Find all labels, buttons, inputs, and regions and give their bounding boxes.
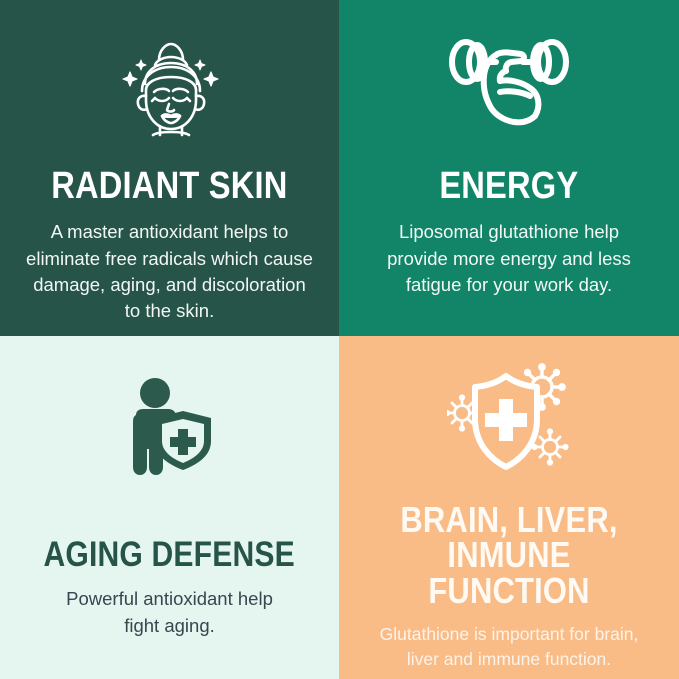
panel-title-radiant-skin: RADIANT SKIN <box>51 168 287 205</box>
panel-aging-defense: AGING DEFENSE Powerful antioxidant help … <box>0 336 339 679</box>
person-with-shield-icon <box>127 377 213 486</box>
panel-body-aging-defense: Powerful antioxidant help fight aging. <box>66 586 273 639</box>
benefits-infographic: RADIANT SKIN A master antioxidant helps … <box>0 0 679 679</box>
panel-title-aging-defense: AGING DEFENSE <box>44 538 295 572</box>
panel-title-brain-liver-immune: BRAIN, LIVER, INMUNE FUNCTION <box>363 502 655 608</box>
panel-body-radiant-skin: A master antioxidant helps to eliminate … <box>26 219 313 324</box>
panel-body-energy: Liposomal glutathione help provide more … <box>387 219 631 298</box>
icon-wrap-radiant-skin <box>0 0 339 156</box>
panel-title-energy: ENERGY <box>439 168 578 205</box>
icon-wrap-aging-defense <box>0 336 339 496</box>
shield-with-virus-icon <box>447 363 571 484</box>
panel-radiant-skin: RADIANT SKIN A master antioxidant helps … <box>0 0 339 336</box>
panel-brain-liver-immune: BRAIN, LIVER, INMUNE FUNCTION Glutathion… <box>339 336 679 679</box>
icon-wrap-brain-liver-immune <box>339 336 679 488</box>
icon-wrap-energy <box>339 0 679 156</box>
panel-body-brain-liver-immune: Glutathione is important for brain, live… <box>380 622 639 672</box>
panel-energy: ENERGY Liposomal glutathione help provid… <box>339 0 679 336</box>
woman-face-skincare-icon <box>115 34 225 147</box>
flexing-arm-dumbbell-icon <box>447 34 571 147</box>
